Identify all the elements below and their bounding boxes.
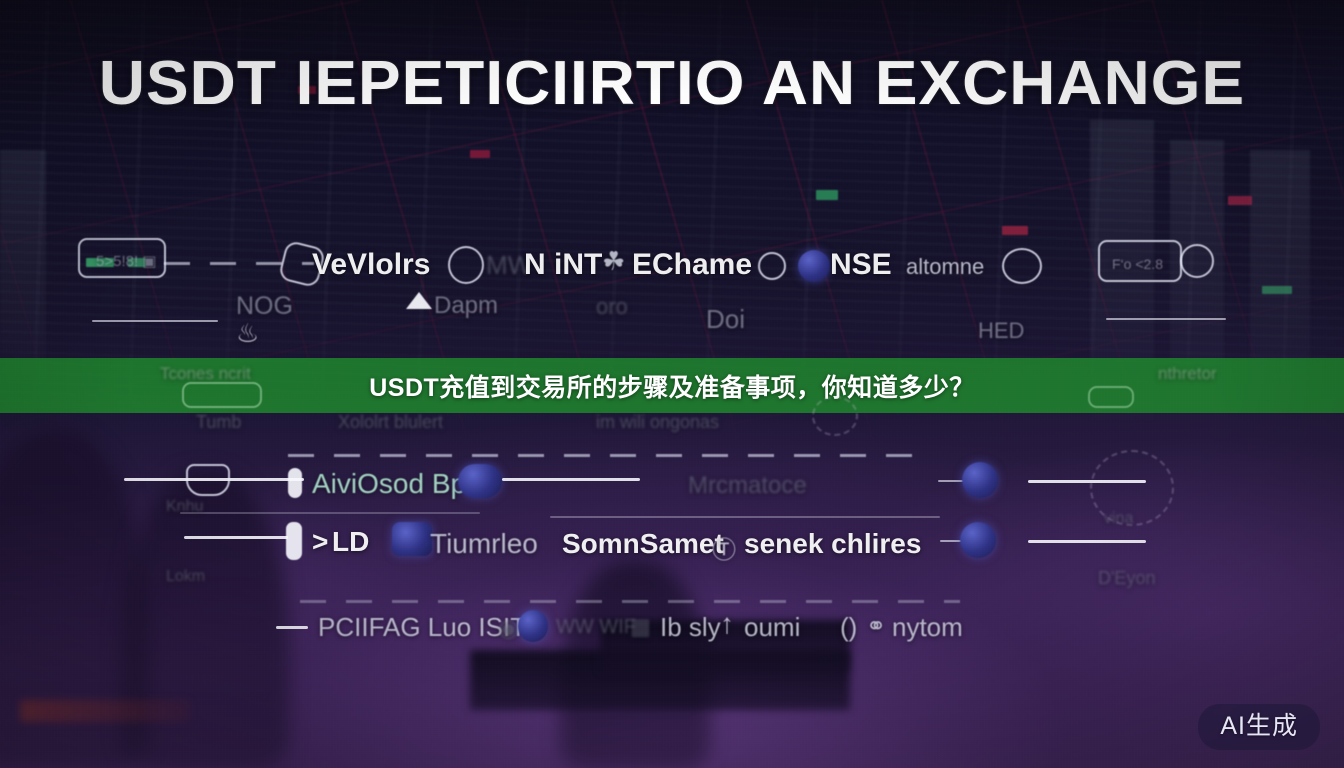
- artifact-glyph: VeVlolrs: [312, 248, 430, 282]
- artifact-glyph: Knhu: [166, 498, 203, 516]
- decorative-handle: [288, 468, 302, 498]
- artifact-glyph: ☘: [602, 246, 625, 277]
- artifact-glyph: ⚭: [866, 612, 886, 641]
- artifact-glyph: Tiumrleo: [430, 528, 538, 560]
- artifact-glyph: altomne: [906, 254, 984, 280]
- artifact-glyph: Ib sly: [660, 612, 721, 643]
- artifact-glyph: NOG: [236, 292, 293, 321]
- artifact-glyph: EChame: [632, 248, 752, 282]
- decorative-dashes: [288, 454, 928, 457]
- decorative-rule: [502, 478, 640, 481]
- artifact-glyph: SomnSamet: [562, 528, 724, 560]
- page-title: USDT IEPETICIIRTIO AN EXCHANGE: [0, 46, 1344, 122]
- ai-generated-badge: AI生成: [1198, 704, 1320, 750]
- artifact-glyph: Tumb: [196, 412, 241, 433]
- price-blip: [816, 190, 838, 200]
- desk-surface: [20, 700, 190, 722]
- decorative-panel: [182, 382, 262, 408]
- price-blip: [1262, 286, 1292, 294]
- decorative-rule: [1106, 318, 1226, 320]
- decorative-handle: [286, 522, 302, 560]
- chevron-up-icon: [406, 292, 432, 309]
- artifact-glyph: 5>5!8! ▣: [96, 252, 156, 270]
- artifact-glyph: nthretor: [1158, 364, 1217, 384]
- artifact-glyph: oro: [596, 294, 628, 320]
- banner-image: USDT IEPETICIIRTIO AN EXCHANGE 5>5!8! ▣ …: [0, 0, 1344, 768]
- artifact-glyph: vina: [1104, 510, 1133, 528]
- artifact-glyph: Doi: [706, 304, 745, 335]
- decorative-rule: [180, 512, 480, 514]
- decorative-rule: [550, 516, 940, 518]
- decorative-rule: [1028, 540, 1146, 543]
- artifact-glyph: Xololrt blulert: [338, 412, 443, 433]
- decorative-blob: [962, 462, 998, 498]
- price-blip: [1002, 226, 1028, 235]
- decorative-ring: [186, 464, 230, 496]
- artifact-glyph: N iNT: [524, 248, 602, 282]
- decorative-blob: [458, 464, 502, 498]
- decorative-blob: [960, 522, 996, 558]
- price-blip: [1228, 196, 1252, 205]
- artifact-glyph: Mrcmatoce: [688, 472, 807, 500]
- artifact-glyph: Tcones ncrit: [160, 364, 251, 384]
- artifact-glyph: ◉: [498, 614, 519, 643]
- artifact-glyph: D'Eyon: [1098, 568, 1155, 589]
- artifact-glyph: oumi: [744, 612, 800, 643]
- artifact-glyph: ♨: [236, 318, 259, 349]
- decorative-blob: [798, 250, 830, 282]
- artifact-glyph: Ⓣ: [712, 530, 736, 565]
- artifact-glyph: LD: [332, 526, 369, 558]
- artifact-glyph: Dapm: [434, 292, 498, 320]
- decorative-rule: [184, 536, 288, 539]
- decorative-blob: [392, 522, 432, 556]
- artifact-glyph: Lokm: [166, 568, 205, 586]
- artifact-glyph: >: [312, 526, 328, 558]
- artifact-glyph: nytom: [892, 612, 963, 643]
- artifact-glyph: ▦: [630, 614, 651, 640]
- decorative-ring: [448, 246, 484, 284]
- decorative-ring: [758, 252, 786, 280]
- decorative-blob: [518, 610, 548, 642]
- artifact-glyph: senek chlires: [744, 528, 921, 560]
- decorative-ring: [1002, 248, 1042, 284]
- artifact-glyph: im wili ongonas: [596, 412, 719, 433]
- artifact-glyph: (): [840, 612, 857, 643]
- artifact-glyph: AiviOsod Bp: [312, 468, 466, 500]
- decorative-ring: [1180, 244, 1214, 278]
- decorative-panel: [1088, 386, 1134, 408]
- banner-title-text: USDT充值到交易所的步骤及准备事项，你知道多少？: [369, 368, 975, 404]
- artifact-glyph: WW WIF: [556, 616, 636, 639]
- decorative-rule: [92, 320, 218, 322]
- artifact-glyph: HED: [978, 318, 1024, 344]
- artifact-glyph: F‘o ˂2.8: [1112, 256, 1163, 272]
- artifact-glyph: NSE: [830, 248, 892, 282]
- decorative-rule: [276, 626, 308, 629]
- price-blip: [470, 150, 490, 158]
- artifact-glyph: ↑: [720, 608, 734, 640]
- decorative-dashes: [300, 600, 960, 603]
- decorative-stamp: [812, 396, 858, 436]
